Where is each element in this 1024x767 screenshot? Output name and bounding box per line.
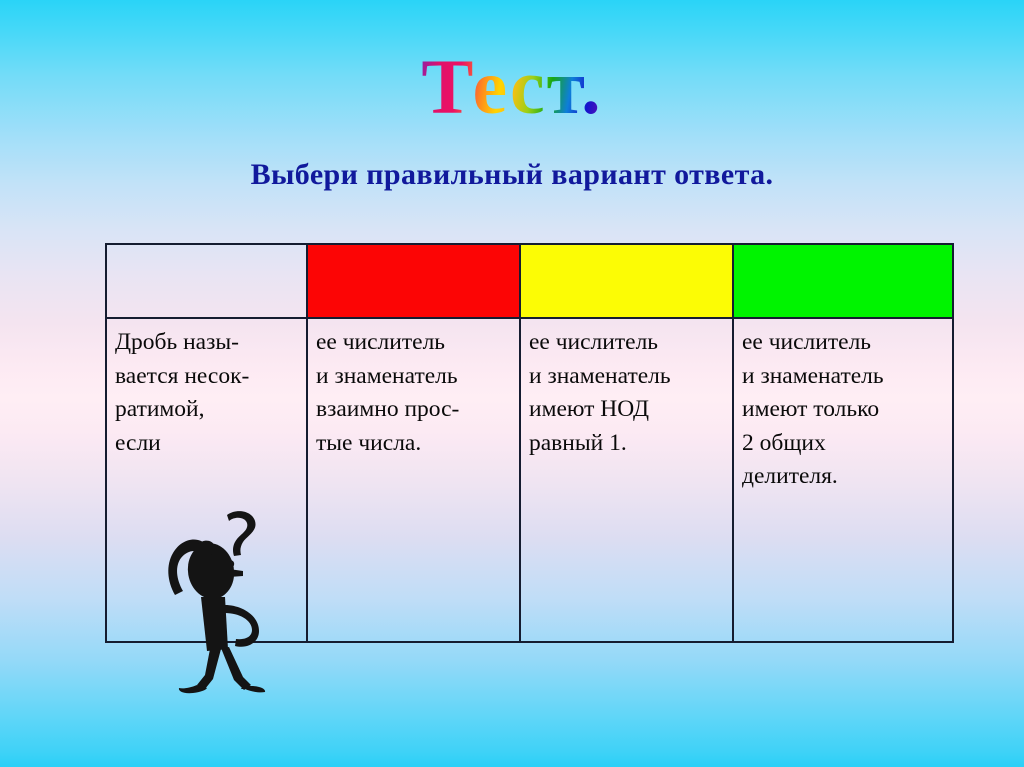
nose-shape <box>229 569 243 577</box>
torso-shape <box>201 597 228 651</box>
header-cell-prompt <box>106 244 307 318</box>
table-body-row: Дробь назы- вается несок- ратимой, если <box>106 318 953 642</box>
right-leg-shape <box>221 647 251 690</box>
header-cell-option-a[interactable] <box>307 244 520 318</box>
option-a-text: ее числитель и знаменатель взаимно прос-… <box>308 319 519 460</box>
header-cell-option-c[interactable] <box>733 244 953 318</box>
answer-options-table: Дробь назы- вается несок- ратимой, если <box>105 243 954 643</box>
page-title: Тест. <box>421 48 602 126</box>
option-cell-b[interactable]: ее числитель и знаменатель имеют НОД рав… <box>520 318 733 642</box>
thinking-stick-figure-icon <box>155 509 290 694</box>
option-c-text: ее числитель и знаменатель имеют только … <box>734 319 952 494</box>
option-cell-c[interactable]: ее числитель и знаменатель имеют только … <box>733 318 953 642</box>
table-header-row <box>106 244 953 318</box>
header-cell-option-b[interactable] <box>520 244 733 318</box>
instruction-text: Выбери правильный вариант ответа. <box>251 158 774 191</box>
option-b-text: ее числитель и знаменатель имеют НОД рав… <box>521 319 732 460</box>
prompt-cell: Дробь назы- вается несок- ратимой, если <box>106 318 307 642</box>
right-arm-shape <box>225 605 259 647</box>
left-leg-shape <box>197 649 221 689</box>
prompt-text: Дробь назы- вается несок- ратимой, если <box>107 319 306 460</box>
subtitle-container: Выбери правильный вариант ответа. <box>0 158 1024 192</box>
option-cell-a[interactable]: ее числитель и знаменатель взаимно прос-… <box>307 318 520 642</box>
title-container: Тест. <box>0 48 1024 126</box>
slide-canvas: Тест. Выбери правильный вариант ответа. … <box>0 0 1024 767</box>
